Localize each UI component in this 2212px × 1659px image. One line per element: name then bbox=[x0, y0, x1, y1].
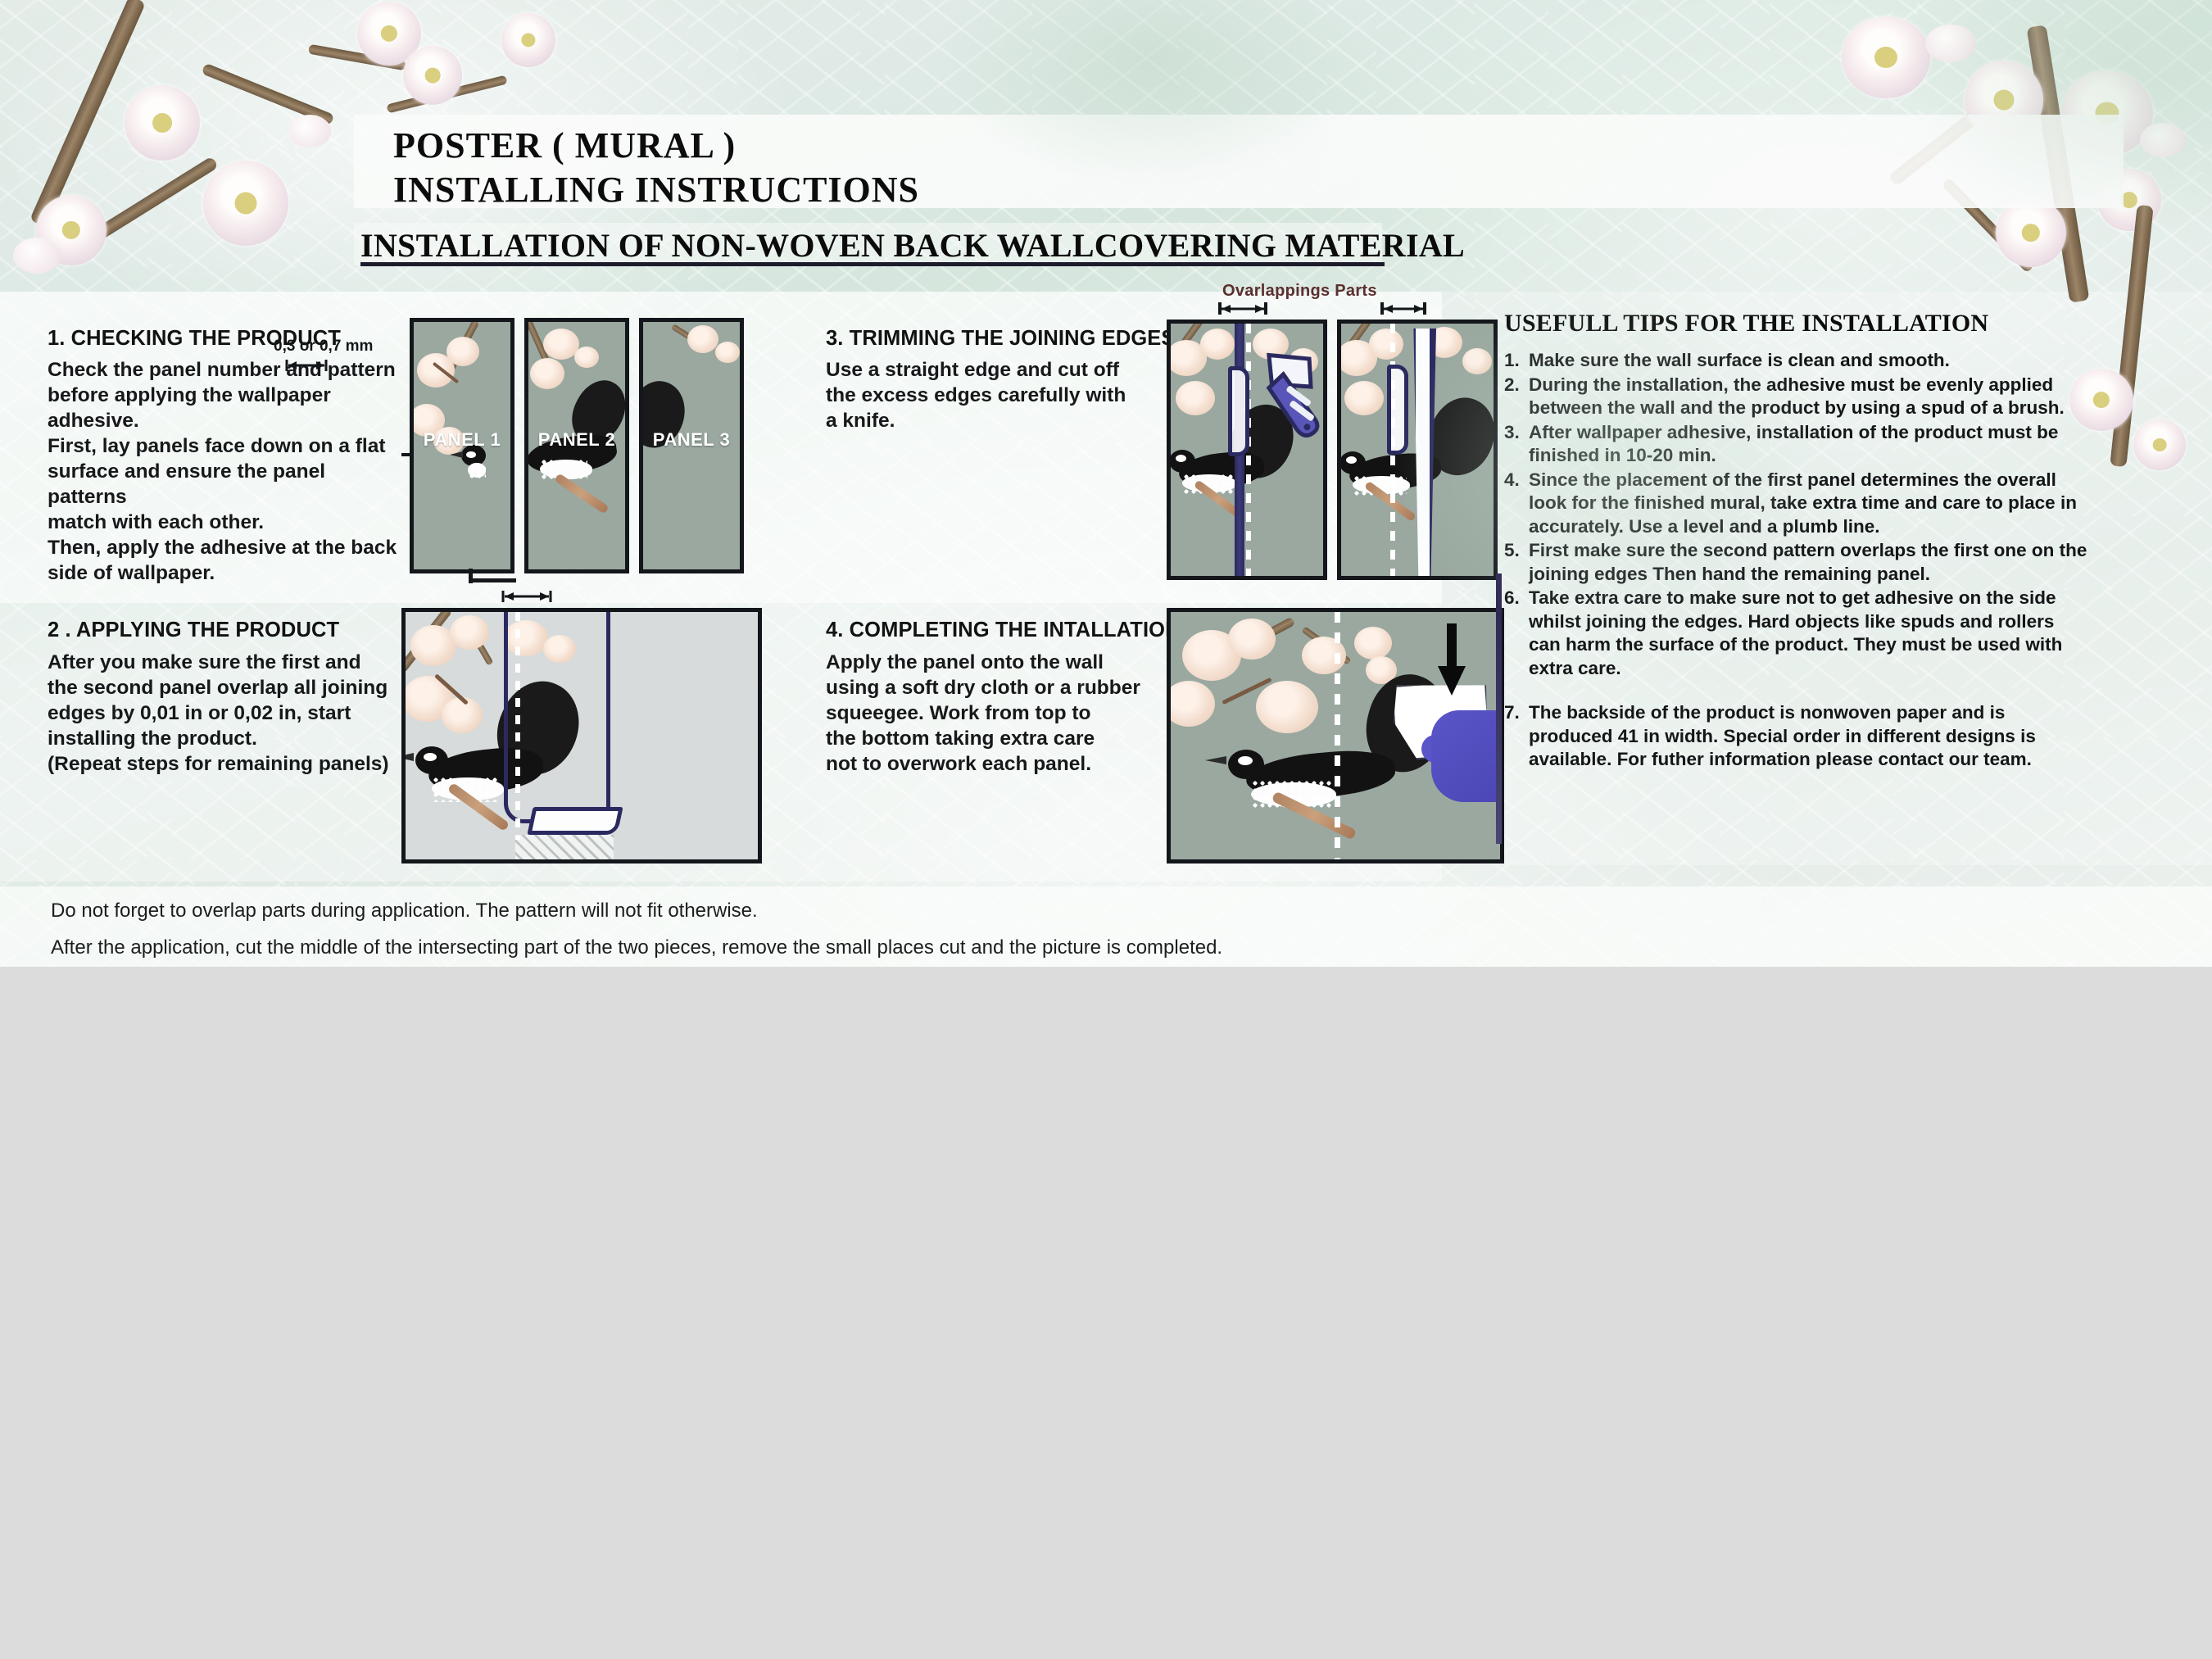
step-3-body: Use a straight edge and cut off the exce… bbox=[826, 357, 1154, 433]
footer-note-1: Do not forget to overlap parts during ap… bbox=[51, 900, 758, 922]
tips-panel: USEFULL TIPS FOR THE INSTALLATION 1. Mak… bbox=[1504, 310, 2091, 850]
overlapping-parts-label: Ovarlappings Parts bbox=[1222, 282, 1377, 301]
overlap-measure-label: 0,3 or 0,7 mm bbox=[274, 338, 373, 356]
promo-band: NON-ADHESIVE BACKING WALL MURAL Please a… bbox=[0, 967, 2212, 1659]
step-1-body: Check the panel number and pattern befor… bbox=[48, 357, 408, 586]
panel-1-label: PANEL 1 bbox=[414, 429, 510, 451]
overlap-hatch-area bbox=[515, 835, 614, 863]
tip-item: 7. The backside of the product is nonwov… bbox=[1504, 701, 2091, 772]
trim-frame-edge bbox=[1337, 320, 1498, 580]
overlap-dashed-guide bbox=[515, 612, 520, 840]
page-title-line1: POSTER ( MURAL ) bbox=[393, 125, 736, 166]
tip-item: 1. Make sure the wall surface is clean a… bbox=[1504, 349, 2091, 373]
arrow-down-icon bbox=[1438, 623, 1466, 696]
overlap-top-arrow bbox=[501, 590, 552, 603]
step-2-body: After you make sure the first and the se… bbox=[48, 650, 408, 777]
tip-item: 6. Take extra care to make sure not to g… bbox=[1504, 587, 2091, 680]
tip-text: After wallpaper adhesive, installation o… bbox=[1529, 421, 2091, 468]
ruler-baseline bbox=[469, 578, 516, 582]
tip-text: First make sure the second pattern overl… bbox=[1529, 539, 2091, 586]
trim-frame-knife bbox=[1167, 320, 1327, 580]
panel-1-box: PANEL 1 bbox=[410, 318, 514, 573]
tips-list: 1. Make sure the wall surface is clean a… bbox=[1504, 349, 2091, 772]
diagram-panels: PANEL 1 PANEL 2 bbox=[401, 318, 762, 588]
subtitle-underline bbox=[360, 262, 1385, 266]
diagram-trimming bbox=[1167, 320, 1504, 590]
overlap-measure-arrow-right bbox=[1380, 301, 1426, 315]
tip-text: Make sure the wall surface is clean and … bbox=[1529, 349, 2091, 373]
step-3-heading: 3. TRIMMING THE JOINING EDGES bbox=[826, 327, 1154, 351]
poster-root: POSTER ( MURAL ) INSTALLING INSTRUCTIONS… bbox=[0, 0, 2212, 1659]
tip-item: 4. Since the placement of the first pane… bbox=[1504, 469, 2091, 539]
tip-text: Take extra care to make sure not to get … bbox=[1529, 587, 2091, 680]
straight-edge-grip-right bbox=[1387, 365, 1408, 455]
tip-text: The backside of the product is nonwoven … bbox=[1529, 701, 2091, 772]
gloved-hand bbox=[1431, 710, 1504, 802]
panel-2-box: PANEL 2 bbox=[524, 318, 629, 573]
overlap-frame bbox=[401, 608, 762, 863]
tip-number: 7. bbox=[1504, 701, 1529, 772]
tip-number: 6. bbox=[1504, 587, 1529, 680]
panel-3-box: PANEL 3 bbox=[639, 318, 744, 573]
footer-note-2: After the application, cut the middle of… bbox=[51, 936, 1222, 959]
panel-2-label: PANEL 2 bbox=[528, 429, 625, 451]
step-2-heading: 2 . APPLYING THE PRODUCT bbox=[48, 619, 408, 642]
tip-item: 3. After wallpaper adhesive, installatio… bbox=[1504, 421, 2091, 468]
diagram-completing bbox=[1167, 608, 1504, 863]
tip-number: 2. bbox=[1504, 374, 1529, 420]
tip-item: 2. During the installation, the adhesive… bbox=[1504, 374, 2091, 420]
tip-text: During the installation, the adhesive mu… bbox=[1529, 374, 2091, 420]
overlap-flap bbox=[527, 807, 623, 835]
step-4-heading: 4. COMPLETING THE INTALLATION bbox=[826, 619, 1154, 642]
tip-item: 5. First make sure the second pattern ov… bbox=[1504, 539, 2091, 586]
tips-side-rule bbox=[1496, 573, 1502, 844]
diagram-overlap bbox=[401, 608, 762, 863]
tip-number: 4. bbox=[1504, 469, 1529, 539]
tip-text: Since the placement of the first panel d… bbox=[1529, 469, 2091, 539]
overlap-measure-arrow-left bbox=[1218, 301, 1267, 315]
tip-number: 5. bbox=[1504, 539, 1529, 586]
completing-frame bbox=[1167, 608, 1504, 863]
step-4-body: Apply the panel onto the wall using a so… bbox=[826, 650, 1154, 777]
tip-number: 1. bbox=[1504, 349, 1529, 373]
completing-dashed-guide bbox=[1335, 612, 1340, 859]
tips-title: USEFULL TIPS FOR THE INSTALLATION bbox=[1504, 310, 2091, 338]
page-title-line2: INSTALLING INSTRUCTIONS bbox=[393, 169, 919, 211]
tip-number: 3. bbox=[1504, 421, 1529, 468]
panel-3-label: PANEL 3 bbox=[643, 429, 740, 451]
page-subtitle: INSTALLATION OF NON-WOVEN BACK WALLCOVER… bbox=[360, 226, 1465, 265]
overlap-measure-arrow bbox=[285, 359, 328, 372]
instruction-sheet: POSTER ( MURAL ) INSTALLING INSTRUCTIONS… bbox=[0, 0, 2212, 967]
